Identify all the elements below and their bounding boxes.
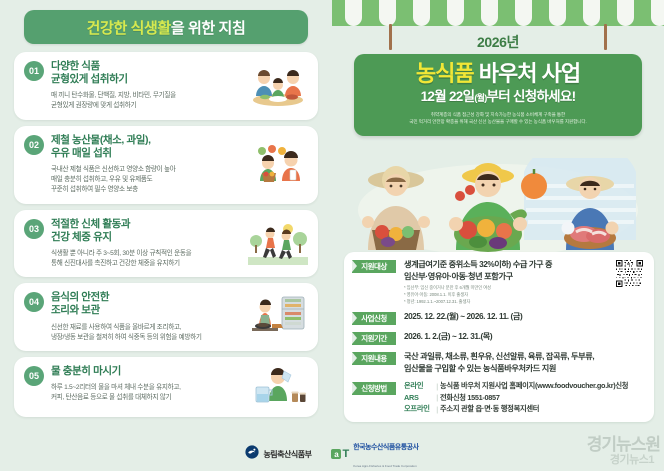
awning-stripe	[566, 0, 583, 26]
apply-method-list: 온라인 | 농식품 바우처 지원사업 홈페이지(www.foodvoucher.…	[404, 381, 646, 414]
guideline-title: 제철 농산물(채소, 과일), 우유 매일 섭취	[51, 134, 244, 160]
guideline-description: 신선한 재료를 사용하여 식품을 올바르게 조리하고, 냉장/냉동 보관을 철저…	[51, 323, 244, 343]
awning-stripe	[634, 0, 651, 26]
ministry-name: 농림축산식품부	[263, 449, 311, 460]
guideline-description: 하루 1.5~2리터의 물을 마셔 체내 수분을 유지하고, 커피, 탄산음료 …	[51, 383, 244, 403]
guideline-list: 01 다양한 식품 균형있게 섭취하기 매 끼니 탄수화물, 단백질, 지방, …	[10, 52, 322, 417]
info-label: 지원대상	[352, 260, 396, 273]
awning-stripe	[481, 0, 498, 26]
korea-government-emblem-icon	[245, 445, 259, 464]
awning-stripe	[583, 0, 600, 26]
apply-method-offline: 오프라인 | 주소지 관할 읍·면·동 행정복지센터	[404, 404, 646, 414]
awning-stripe	[532, 0, 549, 26]
guideline-number: 03	[24, 219, 44, 239]
at-corporation-logo: a T 한국농수산식품유통공사 Korea Agro-Fisheries & F…	[331, 436, 418, 471]
voucher-title-sign: 농식품 바우처 사업 12월 22일(월)부터 신청하세요! 취약계층의 식품 …	[354, 54, 642, 136]
guideline-card: 03 적절한 신체 활동과 건강 체중 유지 식생활 뿐 아니라 주 3~5회,…	[14, 210, 318, 278]
left-panel-header: 건강한 식생활을 위한 지침	[24, 10, 308, 44]
farmers-with-produce-illustration	[338, 158, 658, 254]
awning-stripe	[549, 0, 566, 26]
awning-stripe	[515, 0, 532, 26]
awning-stripe	[345, 0, 362, 26]
info-label: 지원기간	[352, 332, 396, 345]
guideline-title: 음식의 안전한 조리와 보관	[51, 291, 244, 317]
guideline-description: 매 끼니 탄수화물, 단백질, 지방, 비타민, 무기질을 균형있게 권장량에 …	[51, 91, 244, 111]
voucher-start-date: 12월 22일	[421, 89, 475, 104]
guideline-number: 02	[24, 135, 44, 155]
voucher-start-day: (월)	[474, 93, 486, 103]
info-main-text: 2026. 1. 2.(금) ~ 12. 31.(목)	[404, 331, 646, 343]
at-name-korean: 한국농수산식품유통공사	[353, 444, 418, 451]
info-row-support-period: 지원기간 2026. 1. 2.(금) ~ 12. 31.(목)	[352, 331, 646, 345]
awning-stripes	[332, 0, 664, 26]
guideline-body: 음식의 안전한 조리와 보관 신선한 재료를 사용하여 식품을 올바르게 조리하…	[51, 291, 248, 343]
apply-channel-detail[interactable]: 농식품 바우처 지원사업 홈페이지(www.foodvoucher.go.kr)…	[440, 381, 646, 391]
info-label: 지원내용	[352, 352, 396, 365]
guideline-description: 식생활 뿐 아니라 주 3~5회, 30분 이상 규칙적인 운동을 통해 신진대…	[51, 249, 244, 269]
awning-stripe	[430, 0, 447, 26]
info-value: 생계급여기준 중위소득 32%이하) 수급 가구 중 임산부·영유아·아동·청년…	[404, 259, 646, 305]
guideline-description: 국내산 제철 식품은 신선하고 영양소 함량이 높아 매일 충분히 섭취하고, …	[51, 165, 244, 196]
info-row-support-content: 지원내용 국산 과일류, 채소류, 흰우유, 신선알류, 육류, 잡곡류, 두부…	[352, 351, 646, 375]
awning-stripe	[332, 0, 345, 26]
at-name-english: Korea Agro-Fisheries & Food Trade Corpor…	[353, 464, 416, 468]
apply-channel-detail[interactable]: 전화신청 1551-0857	[440, 393, 646, 403]
awning-stripe	[396, 0, 413, 26]
left-panel-title-highlight: 건강한 식생활	[87, 20, 171, 37]
guideline-card: 02 제철 농산물(채소, 과일), 우유 매일 섭취 국내산 제철 식품은 신…	[14, 126, 318, 204]
qr-code[interactable]	[614, 258, 644, 288]
drinking-water-icon	[248, 365, 308, 409]
info-value: 국산 과일류, 채소류, 흰우유, 신선알류, 육류, 잡곡류, 두부류, 임산…	[404, 351, 646, 375]
info-value: 2026. 1. 2.(금) ~ 12. 31.(목)	[404, 331, 646, 343]
voucher-info-table: 지원대상 생계급여기준 중위소득 32%이하) 수급 가구 중 임산부·영유아·…	[344, 252, 654, 422]
left-panel-title: 건강한 식생활을 위한 지침	[87, 17, 246, 38]
vegetables-milk-icon	[248, 143, 308, 187]
awning-stripe	[498, 0, 515, 26]
running-people-icon	[248, 221, 308, 265]
awning-stripe	[600, 0, 617, 26]
guideline-title: 물 충분히 마시기	[51, 365, 244, 378]
healthy-diet-guidelines-panel: 건강한 식생활을 위한 지침 01 다양한 식품 균형있게 섭취하기 매 끼니 …	[0, 0, 332, 471]
awning-stripe	[447, 0, 464, 26]
guideline-card: 01 다양한 식품 균형있게 섭취하기 매 끼니 탄수화물, 단백질, 지방, …	[14, 52, 318, 120]
apply-method-ars: ARS | 전화신청 1551-0857	[404, 393, 646, 403]
voucher-subtitle-rest: 부터 신청하세요!	[487, 89, 576, 104]
poster-footer: 농림축산식품부 a T 한국농수산식품유통공사 Korea Agro-Fishe…	[0, 443, 664, 465]
at-mark-icon: a T	[331, 449, 349, 460]
guideline-card: 05 물 충분히 마시기 하루 1.5~2리터의 물을 마셔 체내 수분을 유지…	[14, 357, 318, 417]
voucher-subtitle: 12월 22일(월)부터 신청하세요!	[364, 89, 632, 105]
info-row-eligibility: 지원대상 생계급여기준 중위소득 32%이하) 수급 가구 중 임산부·영유아·…	[352, 259, 646, 305]
apply-channel-label: 온라인	[404, 381, 434, 391]
apply-channel-detail: 주소지 관할 읍·면·동 행정복지센터	[440, 404, 646, 414]
awning-stripe	[464, 0, 481, 26]
awning-stripe	[413, 0, 430, 26]
info-main-text: 국산 과일류, 채소류, 흰우유, 신선알류, 육류, 잡곡류, 두부류, 임산…	[404, 351, 646, 375]
at-name-block: 한국농수산식품유통공사 Korea Agro-Fisheries & Food …	[353, 436, 418, 471]
awning-stripe	[651, 0, 664, 26]
awning-stripe	[617, 0, 634, 26]
awning-stripe	[379, 0, 396, 26]
left-panel-title-rest: 을 위한 지침	[171, 20, 246, 37]
guideline-number: 05	[24, 366, 44, 386]
apply-channel-label: ARS	[404, 393, 434, 402]
info-footnotes: * 임산부: 임신 중이거나 분만 후 6개월 미만인 여성 * 영유아·아동:…	[404, 285, 646, 306]
at-letter-a: a	[331, 449, 341, 459]
info-label: 신청방법	[352, 382, 396, 395]
poster-root: 건강한 식생활을 위한 지침 01 다양한 식품 균형있게 섭취하기 매 끼니 …	[0, 0, 664, 471]
campaign-year: 2026년	[332, 32, 664, 52]
apply-method-online: 온라인 | 농식품 바우처 지원사업 홈페이지(www.foodvoucher.…	[404, 381, 646, 391]
info-row-application-period: 사업신청 2025. 12. 22.(월) ~ 2026. 12. 11. (금…	[352, 311, 646, 325]
guideline-title: 적절한 신체 활동과 건강 체중 유지	[51, 218, 244, 244]
info-value: 2025. 12. 22.(월) ~ 2026. 12. 11. (금)	[404, 311, 646, 323]
info-main-text: 생계급여기준 중위소득 32%이하) 수급 가구 중 임산부·영유아·아동·청년…	[404, 259, 646, 283]
family-eating-icon	[248, 64, 308, 108]
ministry-logo: 농림축산식품부	[245, 445, 311, 464]
voucher-title-highlight: 농식품	[416, 61, 474, 86]
cooking-fridge-icon	[248, 295, 308, 339]
guideline-body: 다양한 식품 균형있게 섭취하기 매 끼니 탄수화물, 단백질, 지방, 비타민…	[51, 60, 248, 112]
guideline-number: 01	[24, 61, 44, 81]
awning-decoration	[332, 0, 664, 26]
guideline-card: 04 음식의 안전한 조리와 보관 신선한 재료를 사용하여 식품을 올바르게 …	[14, 283, 318, 351]
info-row-how-to-apply: 신청방법 온라인 | 농식품 바우처 지원사업 홈페이지(www.foodvou…	[352, 381, 646, 414]
voucher-title-rest: 바우처 사업	[474, 61, 580, 86]
guideline-body: 물 충분히 마시기 하루 1.5~2리터의 물을 마셔 체내 수분을 유지하고,…	[51, 365, 248, 404]
info-main-text: 2025. 12. 22.(월) ~ 2026. 12. 11. (금)	[404, 311, 646, 323]
voucher-description-note: 취약계층의 식품 접근성 강화 및 지속가능한 농식품 소비체계 구축을 통한 …	[364, 111, 632, 126]
guideline-number: 04	[24, 292, 44, 312]
awning-stripe	[362, 0, 379, 26]
info-value: 온라인 | 농식품 바우처 지원사업 홈페이지(www.foodvoucher.…	[404, 381, 646, 414]
apply-channel-label: 오프라인	[404, 404, 434, 414]
voucher-title: 농식품 바우처 사업	[364, 62, 632, 86]
voucher-announcement-panel: 2026년 농식품 바우처 사업 12월 22일(월)부터 신청하세요! 취약계…	[332, 0, 664, 471]
info-label: 사업신청	[352, 312, 396, 325]
guideline-body: 제철 농산물(채소, 과일), 우유 매일 섭취 국내산 제철 식품은 신선하고…	[51, 134, 248, 196]
guideline-body: 적절한 신체 활동과 건강 체중 유지 식생활 뿐 아니라 주 3~5회, 30…	[51, 218, 248, 270]
at-letter-t: T	[342, 449, 349, 460]
guideline-title: 다양한 식품 균형있게 섭취하기	[51, 60, 244, 86]
